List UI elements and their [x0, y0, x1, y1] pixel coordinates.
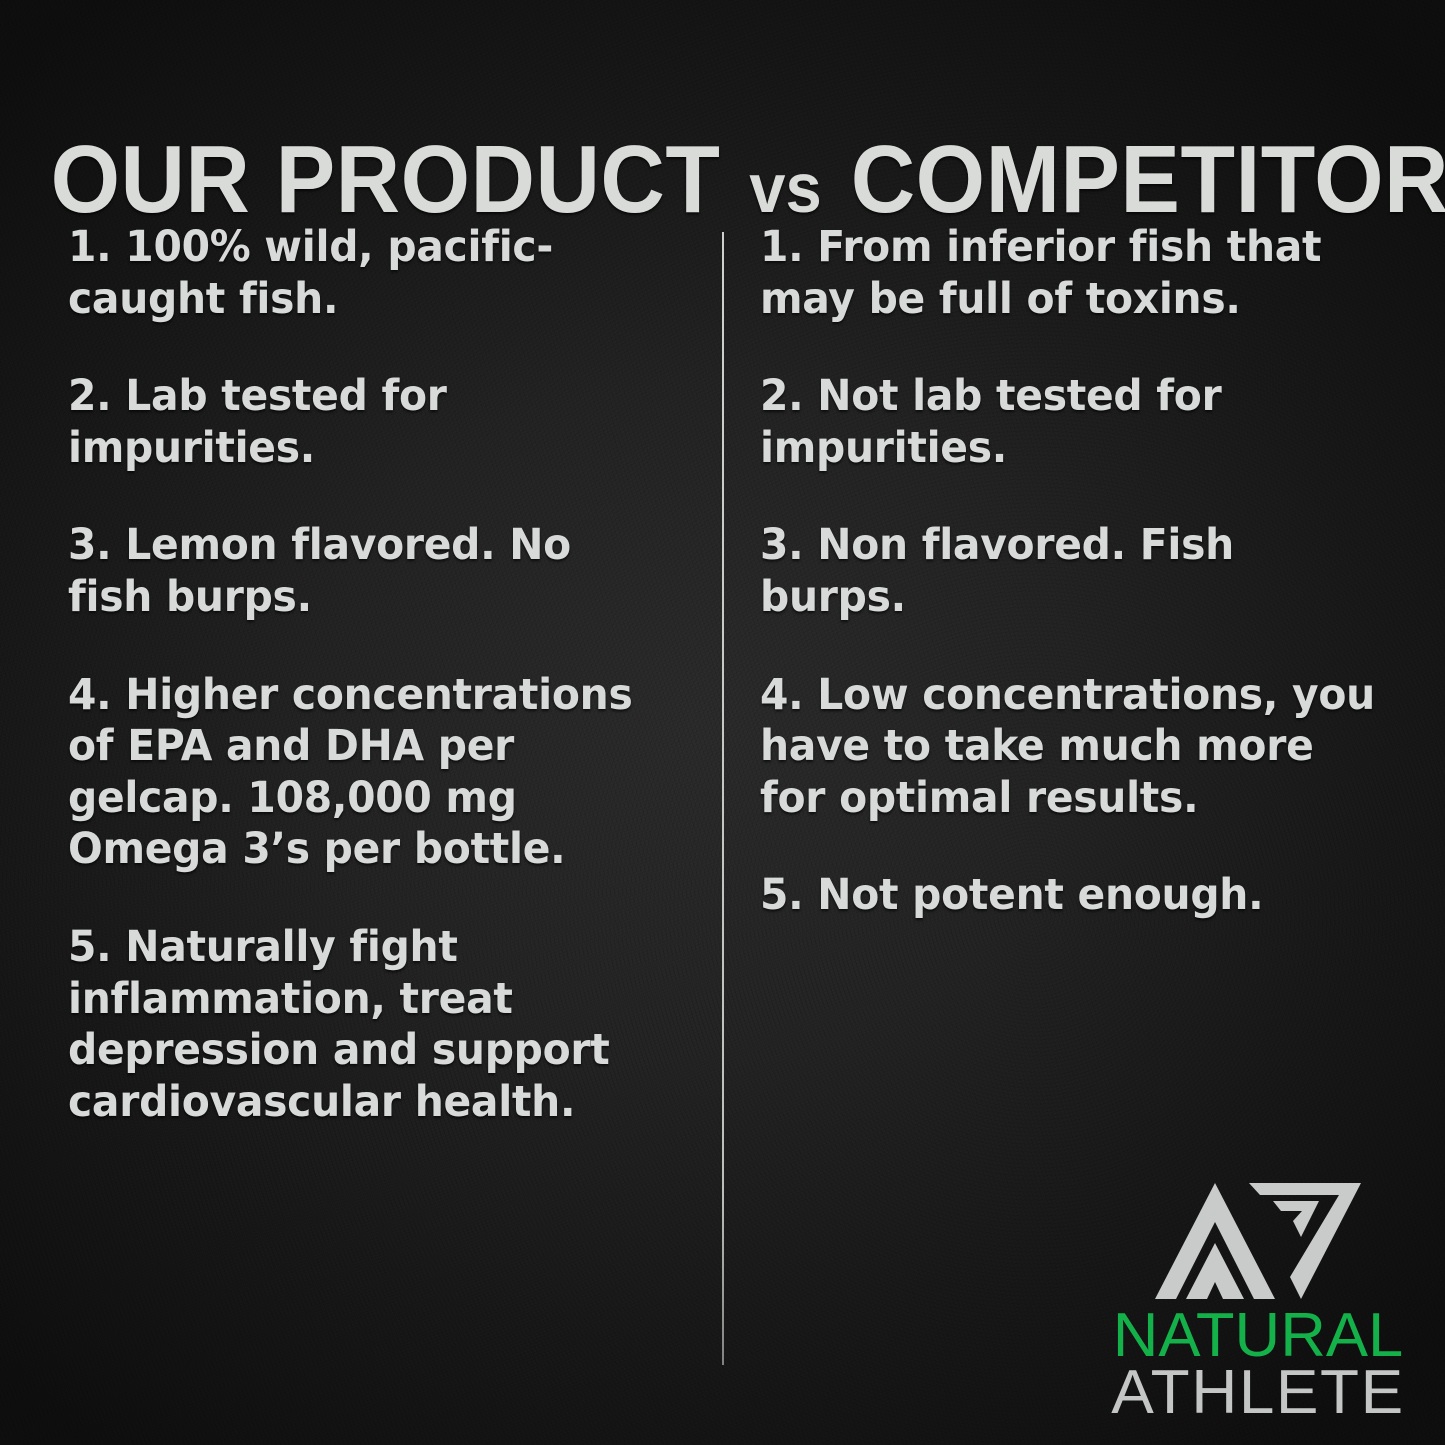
- title-competitors: COMPETITORS: [851, 126, 1445, 233]
- list-item: 1. From inferior fish that may be full o…: [760, 222, 1376, 325]
- list-item: 1. 100% wild, pacific-caught fish.: [68, 222, 667, 325]
- title-vs-separator: vs: [746, 149, 826, 227]
- comparison-poster: OUR PRODUCT vs COMPETITORS 1. 100% wild,…: [0, 0, 1445, 1445]
- logo-word-athlete: ATHLETE: [1111, 1364, 1406, 1423]
- list-item: 5. Not potent enough.: [760, 870, 1376, 922]
- logo-word-natural: NATURAL: [1112, 1307, 1404, 1364]
- our-product-column: 1. 100% wild, pacific-caught fish. 2. La…: [68, 222, 698, 1174]
- list-item: 5. Naturally fight inflammation, treat d…: [68, 922, 667, 1128]
- title-our-product: OUR PRODUCT: [51, 126, 721, 233]
- competitors-column: 1. From inferior fish that may be full o…: [760, 222, 1408, 968]
- list-item: 3. Non flavored. Fish burps.: [760, 520, 1376, 623]
- list-item: 2. Lab tested for impurities.: [68, 371, 667, 474]
- column-divider: [722, 232, 724, 1365]
- natural-athlete-chevron-mark-icon: [1153, 1181, 1363, 1303]
- list-item: 3. Lemon flavored. No fish burps.: [68, 520, 667, 623]
- list-item: 4. Low concentrations, you have to take …: [760, 670, 1376, 825]
- brand-logo: NATURAL ATHLETE: [1115, 1181, 1401, 1423]
- list-item: 4. Higher concentrations of EPA and DHA …: [68, 670, 667, 876]
- list-item: 2. Not lab tested for impurities.: [760, 371, 1376, 474]
- page-title: OUR PRODUCT vs COMPETITORS: [51, 132, 1395, 228]
